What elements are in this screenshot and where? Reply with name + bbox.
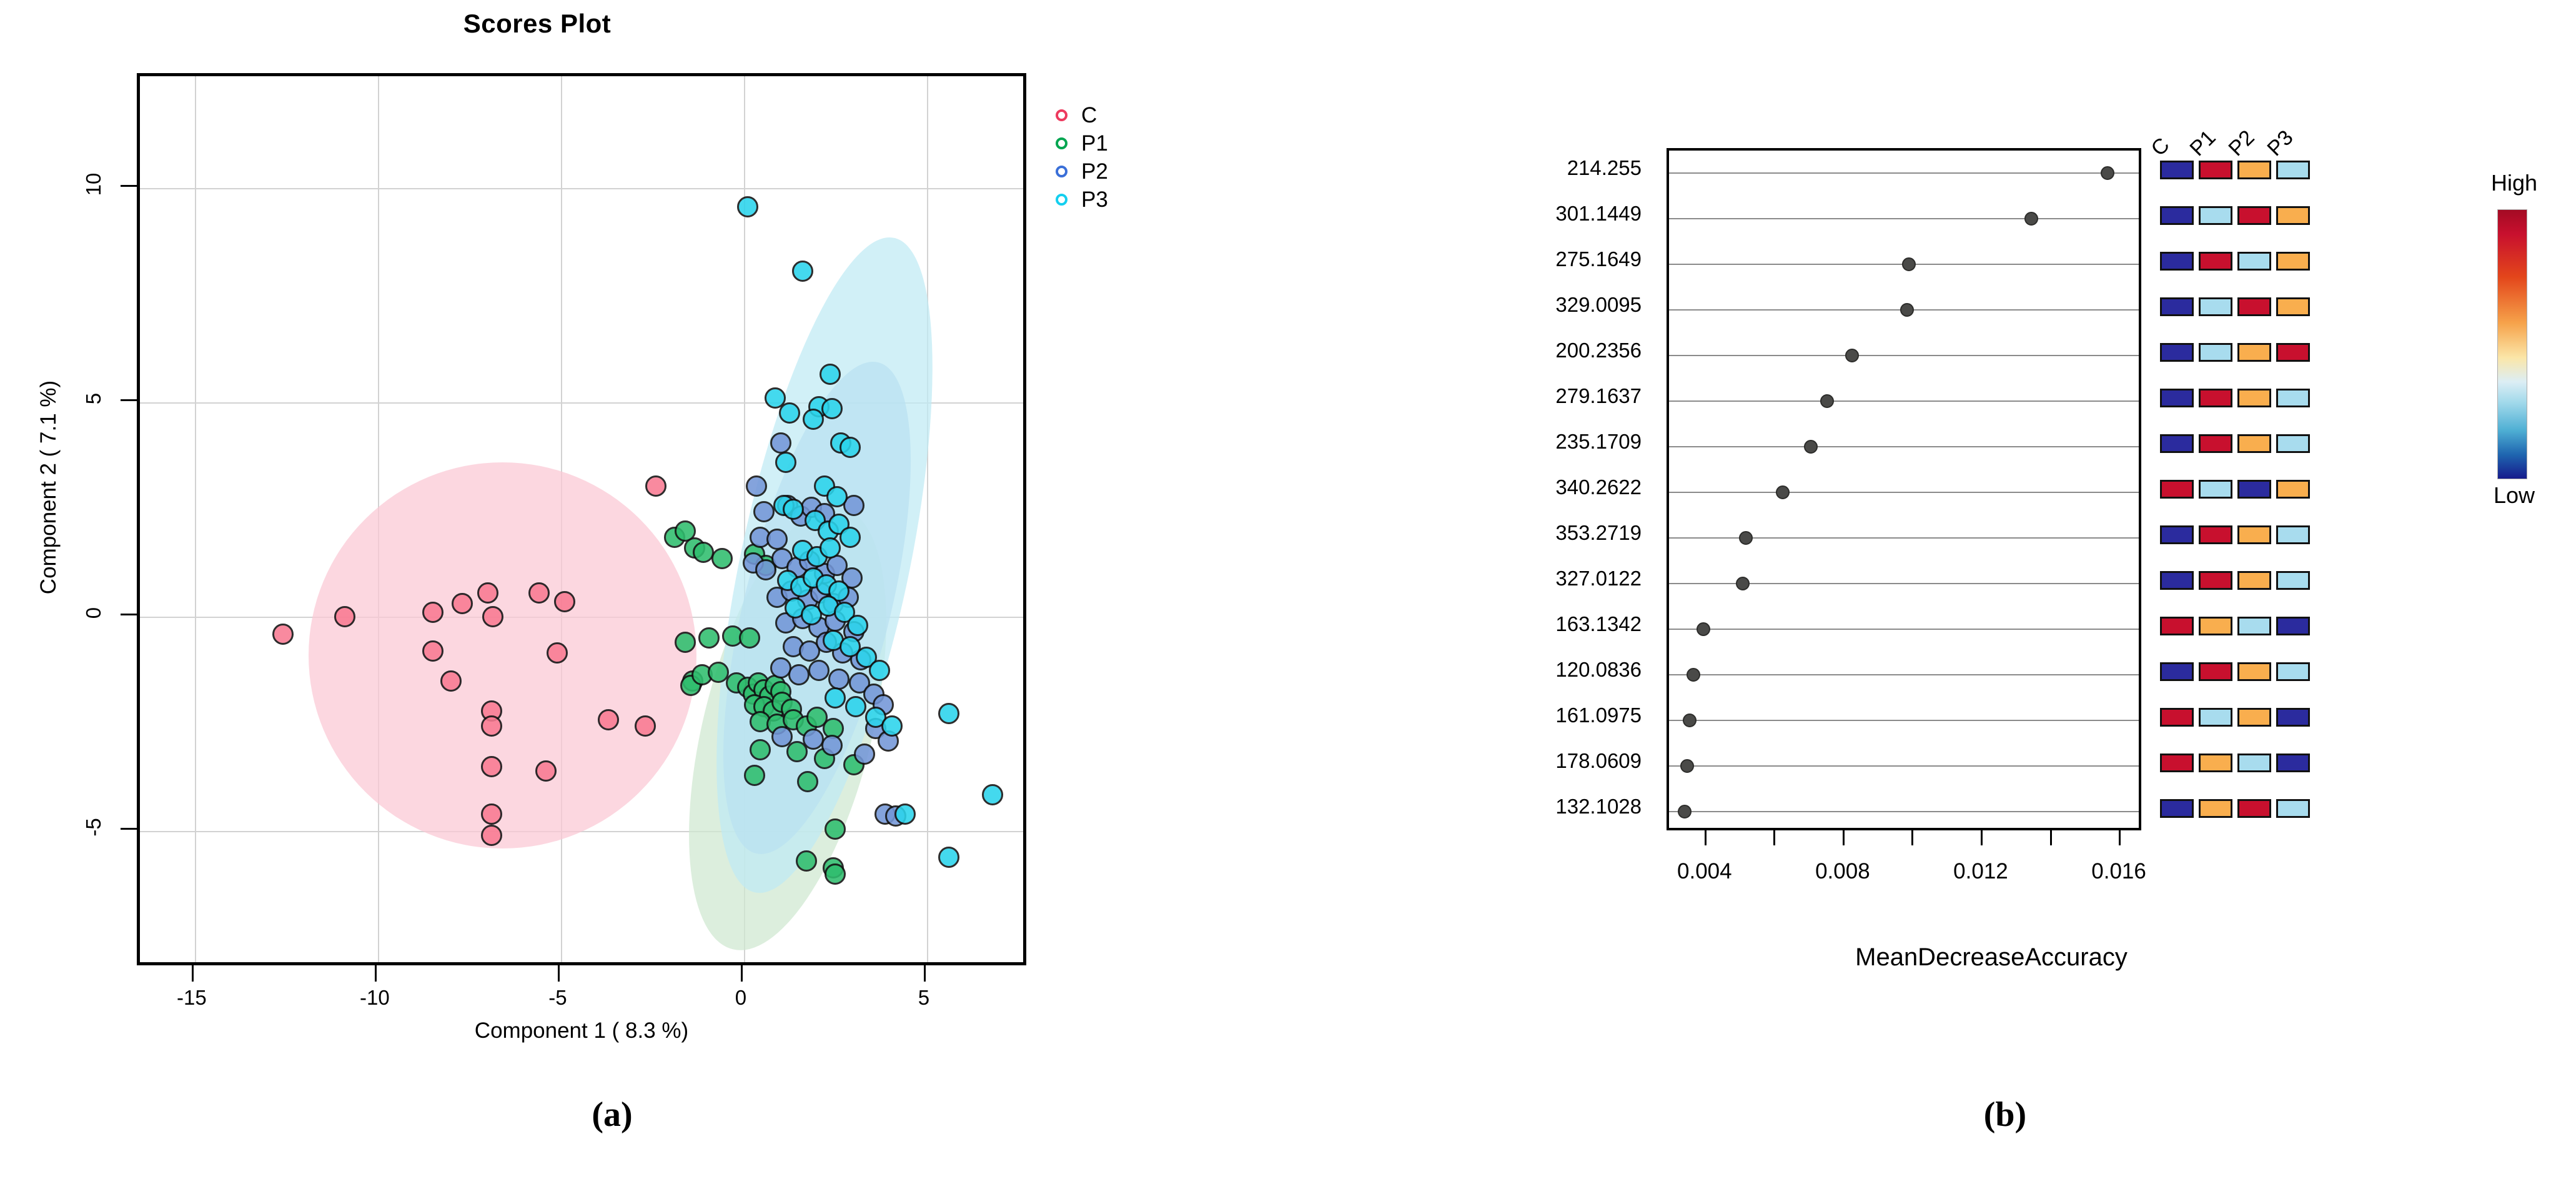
- x-tick: [924, 965, 926, 982]
- heatmap-cell: [2237, 662, 2271, 681]
- lollipop-dot: [1680, 759, 1694, 773]
- x-tick-b: [1705, 830, 1707, 845]
- lollipop-dot: [1687, 668, 1700, 682]
- feature-label: 235.1709: [1379, 430, 1642, 454]
- y-tick-label: -5: [82, 808, 106, 846]
- gridline-vertical: [927, 76, 928, 962]
- heatmap-cell: [2276, 480, 2310, 499]
- colorbar-gradient: [2497, 209, 2527, 479]
- data-point-p3: [982, 784, 1003, 805]
- x-tick-label: 0: [703, 986, 778, 1010]
- heatmap-cell: [2199, 343, 2232, 362]
- heatmap-cell: [2276, 161, 2310, 179]
- importance-plot-panel: MeanDecreaseAccuracy CP1P2P3 High Low (b…: [1287, 0, 2576, 1184]
- feature-label: 275.1649: [1379, 247, 1642, 271]
- data-point-p3: [840, 527, 861, 548]
- data-point-c: [452, 593, 473, 614]
- legend-marker-icon: [1056, 194, 1068, 206]
- x-tick-label: -10: [337, 986, 412, 1010]
- data-point-c: [481, 715, 502, 737]
- heatmap-cell: [2276, 525, 2310, 544]
- data-point-c: [334, 606, 355, 627]
- data-point-p3: [779, 402, 800, 424]
- data-point-p2: [854, 744, 875, 765]
- heatmap-cell: [2276, 799, 2310, 818]
- data-point-p1: [739, 627, 760, 649]
- data-point-p1: [796, 850, 817, 872]
- y-tick-label: 10: [82, 166, 106, 203]
- data-point-p3: [894, 803, 916, 825]
- scores-plot-legend: CP1P2P3: [1056, 105, 1108, 217]
- data-point-p2: [821, 735, 843, 756]
- data-point-p1: [825, 818, 846, 840]
- feature-label: 279.1637: [1379, 384, 1642, 408]
- heatmap-cell: [2237, 754, 2271, 772]
- lollipop-line: [1669, 172, 2139, 174]
- heatmap-cell: [2160, 480, 2194, 499]
- feature-label: 329.0095: [1379, 293, 1642, 317]
- heatmap-cell: [2237, 799, 2271, 818]
- lollipop-dot: [1683, 714, 1697, 727]
- y-tick-label: 5: [82, 380, 106, 417]
- colorbar-high-label: High: [2474, 170, 2555, 196]
- legend-item-p3[interactable]: P3: [1056, 189, 1108, 209]
- data-point-p3: [820, 537, 841, 559]
- colorbar-low-label: Low: [2474, 482, 2555, 509]
- data-point-p3: [840, 437, 861, 458]
- heatmap-cell: [2160, 662, 2194, 681]
- feature-label: 353.2719: [1379, 521, 1642, 545]
- data-point-p2: [788, 664, 810, 685]
- heatmap-cell: [2199, 525, 2232, 544]
- lollipop-line: [1669, 446, 2139, 447]
- x-tick: [375, 965, 377, 982]
- data-point-p2: [766, 529, 788, 550]
- data-point-c: [481, 803, 502, 825]
- heatmap-column-header: P2: [2224, 126, 2259, 161]
- x-tick-b: [1773, 830, 1775, 845]
- heatmap-cell: [2160, 799, 2194, 818]
- feature-label: 120.0836: [1379, 658, 1642, 682]
- data-point-p2: [808, 660, 830, 681]
- lollipop-line: [1669, 811, 2139, 812]
- heatmap-cell: [2199, 434, 2232, 453]
- scores-plot-panel: Scores Plot Component 1 ( 8.3 %) Compone…: [0, 0, 1287, 1184]
- heatmap-column-header: C: [2146, 133, 2174, 161]
- y-axis-label-a: Component 2 ( 7.1 %): [36, 300, 61, 675]
- heatmap-cell: [2199, 161, 2232, 179]
- lollipop-dot: [2101, 166, 2114, 180]
- lollipop-dot: [1820, 394, 1834, 408]
- heatmap-cell: [2237, 206, 2271, 225]
- feature-label: 178.0609: [1379, 749, 1642, 773]
- data-point-p3: [847, 615, 868, 636]
- heatmap-cell: [2160, 343, 2194, 362]
- legend-label: P2: [1081, 161, 1108, 182]
- heatmap-cell: [2199, 297, 2232, 316]
- lollipop-line: [1669, 400, 2139, 402]
- lollipop-line: [1669, 629, 2139, 630]
- heatmap-cell: [2160, 525, 2194, 544]
- heatmap-cell: [2199, 206, 2232, 225]
- heatmap-cell: [2160, 252, 2194, 271]
- x-tick-label-b: 0.008: [1793, 859, 1893, 884]
- data-point-p3: [845, 696, 866, 717]
- data-point-p3: [869, 660, 890, 681]
- heatmap-cell: [2276, 434, 2310, 453]
- x-tick-label-b: 0.012: [1931, 859, 2031, 884]
- gridline-horizontal: [140, 188, 1023, 189]
- heatmap-cell: [2199, 389, 2232, 407]
- y-tick: [121, 828, 137, 830]
- feature-label: 163.1342: [1379, 612, 1642, 636]
- lollipop-dot: [2024, 212, 2038, 226]
- data-point-c: [422, 602, 443, 623]
- heatmap-cell: [2237, 297, 2271, 316]
- lollipop-line: [1669, 355, 2139, 356]
- y-tick: [121, 185, 137, 187]
- x-tick-b: [2050, 830, 2052, 845]
- x-tick-b: [1911, 830, 1913, 845]
- data-point-c: [272, 624, 294, 645]
- x-tick: [558, 965, 560, 982]
- x-tick-label: -5: [520, 986, 595, 1010]
- legend-item-c[interactable]: C: [1056, 105, 1108, 125]
- heatmap-column-header: P1: [2185, 126, 2221, 161]
- data-point-p1: [750, 739, 771, 760]
- panel-b-caption: (b): [1943, 1095, 2068, 1135]
- data-point-c: [422, 640, 443, 662]
- heatmap-cell: [2276, 252, 2310, 271]
- data-point-p2: [753, 501, 775, 522]
- heatmap-cell: [2276, 343, 2310, 362]
- data-point-p2: [770, 432, 791, 454]
- lollipop-dot: [1776, 485, 1790, 499]
- heatmap-cell: [2160, 708, 2194, 727]
- data-point-p3: [938, 847, 959, 868]
- legend-item-p1[interactable]: P1: [1056, 133, 1108, 153]
- gridline-vertical: [195, 76, 196, 962]
- lollipop-dot: [1804, 440, 1818, 454]
- scores-plot-title: Scores Plot: [350, 9, 725, 39]
- feature-label: 327.0122: [1379, 567, 1642, 590]
- heatmap-cell: [2276, 206, 2310, 225]
- data-point-c: [477, 582, 498, 604]
- data-point-p2: [746, 475, 767, 497]
- heatmap-cell: [2199, 252, 2232, 271]
- x-tick-b: [2119, 830, 2121, 845]
- confidence-ellipse-c: [309, 462, 696, 848]
- heatmap-cell: [2160, 389, 2194, 407]
- heatmap-cell: [2160, 617, 2194, 635]
- data-point-p3: [826, 486, 848, 507]
- heatmap-cell: [2237, 571, 2271, 590]
- feature-label: 301.1449: [1379, 202, 1642, 226]
- x-tick-b: [1843, 830, 1845, 845]
- heatmap-cell: [2160, 206, 2194, 225]
- heatmap-cell: [2276, 297, 2310, 316]
- x-tick: [741, 965, 743, 982]
- data-point-p3: [881, 715, 903, 737]
- heatmap-cell: [2237, 708, 2271, 727]
- legend-marker-icon: [1056, 166, 1068, 177]
- heatmap-cell: [2237, 389, 2271, 407]
- heatmap-cell: [2276, 571, 2310, 590]
- lollipop-line: [1669, 218, 2139, 219]
- lollipop-dot: [1736, 577, 1750, 590]
- data-point-c: [528, 582, 550, 604]
- feature-label: 340.2622: [1379, 475, 1642, 499]
- lollipop-dot: [1697, 622, 1710, 636]
- x-tick-b: [1981, 830, 1983, 845]
- heatmap-cell: [2276, 617, 2310, 635]
- heatmap-cell: [2237, 252, 2271, 271]
- heatmap-cell: [2199, 799, 2232, 818]
- data-point-c: [645, 475, 666, 497]
- data-point-p1: [825, 863, 846, 885]
- data-point-p3: [821, 398, 843, 419]
- data-point-p3: [938, 703, 959, 724]
- heatmap-cell: [2199, 662, 2232, 681]
- data-point-p3: [737, 196, 758, 217]
- heatmap-cell: [2276, 708, 2310, 727]
- x-tick-label: -15: [154, 986, 229, 1010]
- data-point-c: [554, 591, 575, 612]
- lollipop-dot: [1739, 531, 1753, 545]
- lollipop-dot: [1902, 257, 1916, 271]
- heatmap-cell: [2160, 571, 2194, 590]
- data-point-p3: [775, 452, 796, 473]
- y-tick: [121, 399, 137, 401]
- heatmap-cell: [2237, 161, 2271, 179]
- heatmap-cell: [2199, 571, 2232, 590]
- legend-marker-icon: [1056, 109, 1068, 121]
- x-tick-label-b: 0.016: [2069, 859, 2169, 884]
- x-axis-label-b: MeanDecreaseAccuracy: [1741, 943, 2241, 972]
- y-tick-label: 0: [82, 594, 106, 632]
- data-point-p3: [820, 364, 841, 385]
- data-point-c: [598, 709, 619, 730]
- lollipop-dot: [1845, 349, 1859, 362]
- heatmap-cell: [2160, 161, 2194, 179]
- lollipop-line: [1669, 492, 2139, 493]
- panel-a-caption: (a): [550, 1095, 675, 1135]
- legend-label: P1: [1081, 132, 1108, 154]
- heatmap-cell: [2160, 754, 2194, 772]
- heatmap-cell: [2237, 343, 2271, 362]
- x-axis-label-a: Component 1 ( 8.3 %): [332, 1018, 831, 1043]
- heatmap-cell: [2237, 480, 2271, 499]
- heatmap-cell: [2199, 754, 2232, 772]
- data-point-c: [440, 670, 462, 692]
- feature-label: 161.0975: [1379, 704, 1642, 727]
- legend-label: C: [1081, 104, 1097, 126]
- x-tick: [192, 965, 194, 982]
- x-tick-label: 5: [886, 986, 961, 1010]
- data-point-p1: [698, 627, 720, 649]
- heatmap-cell: [2237, 434, 2271, 453]
- data-point-c: [481, 825, 502, 846]
- lollipop-line: [1669, 765, 2139, 767]
- legend-item-p2[interactable]: P2: [1056, 161, 1108, 181]
- data-point-p3: [792, 261, 813, 282]
- scores-plot-area: [137, 73, 1026, 965]
- data-point-p2: [828, 669, 850, 690]
- lollipop-dot: [1678, 805, 1692, 818]
- legend-label: P3: [1081, 189, 1108, 211]
- lollipop-line: [1669, 674, 2139, 675]
- heatmap-cell: [2237, 525, 2271, 544]
- heatmap-cell: [2199, 480, 2232, 499]
- data-point-c: [635, 715, 656, 737]
- heatmap-cell: [2276, 389, 2310, 407]
- feature-label: 214.255: [1379, 156, 1642, 180]
- heatmap-cell: [2237, 617, 2271, 635]
- heatmap-column-header: P3: [2262, 126, 2298, 161]
- x-tick-label-b: 0.004: [1655, 859, 1755, 884]
- heatmap-cell: [2160, 434, 2194, 453]
- heatmap-cell: [2199, 708, 2232, 727]
- lollipop-dot: [1900, 303, 1914, 317]
- lollipop-line: [1669, 720, 2139, 721]
- legend-marker-icon: [1056, 137, 1068, 149]
- heatmap-cell: [2199, 617, 2232, 635]
- feature-label: 200.2356: [1379, 339, 1642, 362]
- heatmap-cell: [2160, 297, 2194, 316]
- y-tick: [121, 614, 137, 615]
- importance-plot-area: [1667, 148, 2141, 830]
- feature-label: 132.1028: [1379, 795, 1642, 818]
- heatmap-cell: [2276, 662, 2310, 681]
- data-point-c: [481, 756, 502, 777]
- data-point-p1: [711, 548, 733, 569]
- heatmap-cell: [2276, 754, 2310, 772]
